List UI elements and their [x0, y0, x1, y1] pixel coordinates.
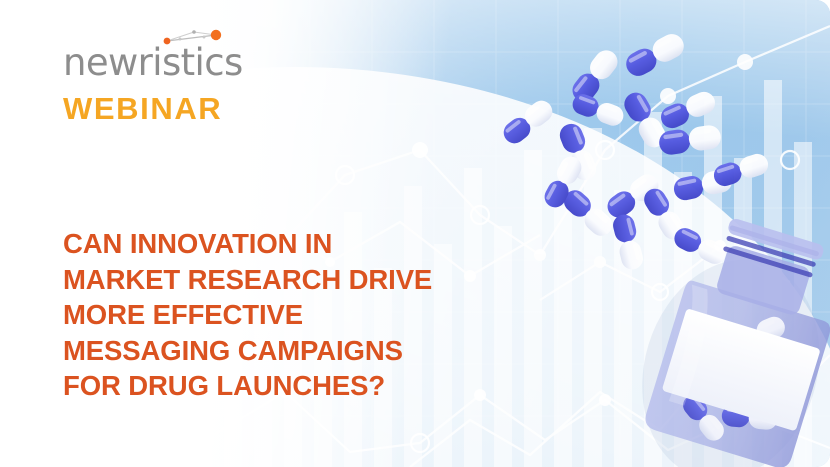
logo-block: newristics WEBINAR: [63, 44, 243, 124]
headline-line-4: MESSAGING CAMPAIGNS: [63, 333, 493, 369]
headline-line-1: CAN INNOVATION IN: [63, 226, 493, 262]
brand-wordmark: newristics: [63, 44, 243, 81]
headline-line-5: FOR DRUG LAUNCHES?: [63, 368, 493, 404]
headline-line-2: MARKET RESEARCH DRIVE: [63, 262, 493, 298]
page-title: CAN INNOVATION IN MARKET RESEARCH DRIVE …: [63, 226, 493, 404]
headline-line-3: MORE EFFECTIVE: [63, 297, 493, 333]
kicker-label: WEBINAR: [63, 93, 243, 124]
dot-connector-icon: [158, 28, 230, 48]
webinar-banner-card: newristics WEBINAR CAN INNOVATION IN MAR…: [0, 0, 830, 467]
